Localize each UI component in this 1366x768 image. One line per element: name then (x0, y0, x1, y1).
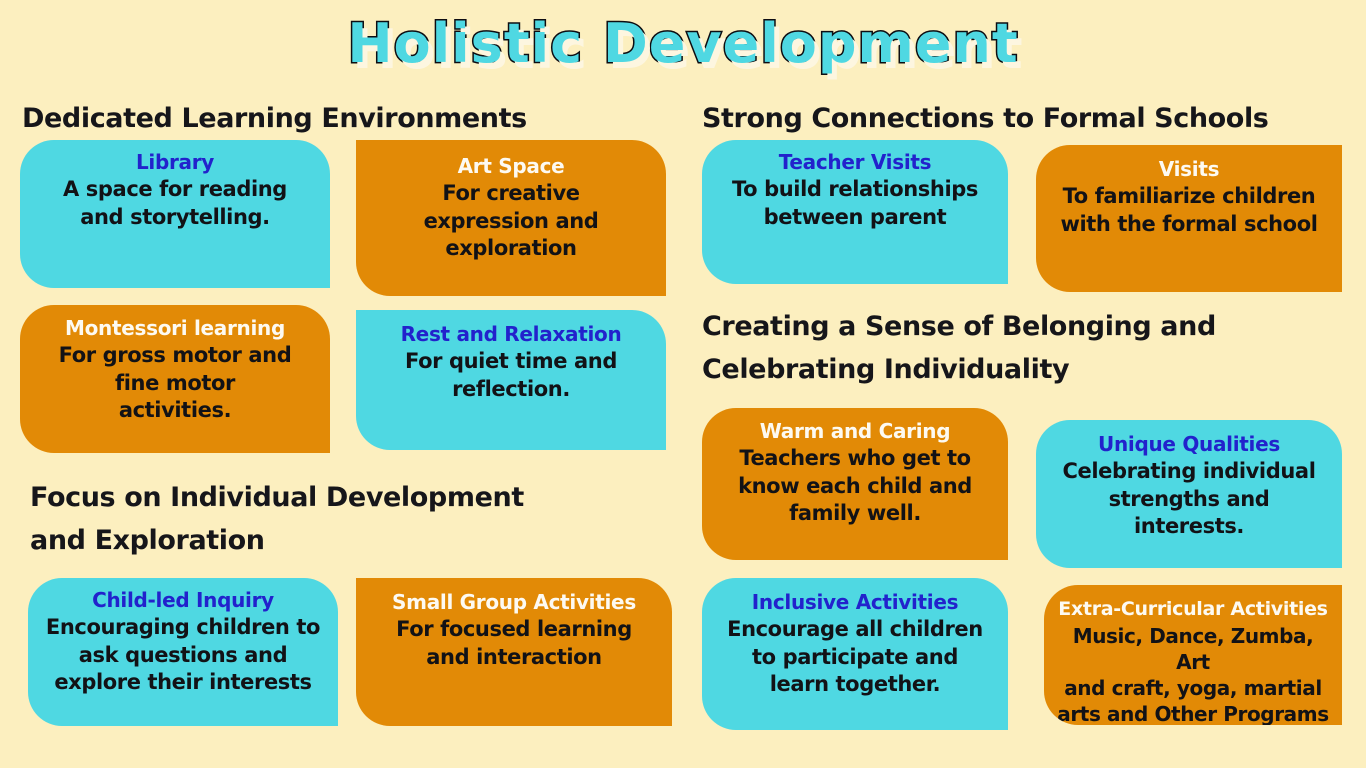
infographic-canvas: Holistic Development Dedicated Learning … (0, 0, 1366, 768)
card-title-warm-and-caring: Warm and Caring (714, 419, 996, 444)
card-library[interactable]: Library A space for reading and storytel… (20, 140, 330, 288)
card-body-inclusive-activities: Encourage all children to participate an… (714, 616, 996, 699)
card-body-unique-qualities: Celebrating individual strengths and int… (1048, 458, 1330, 541)
card-title-extra-curricular-activities: Extra-Curricular Activities (1056, 598, 1330, 622)
card-body-rest-and-relaxation: For quiet time and reflection. (368, 348, 654, 403)
card-title-library: Library (32, 150, 318, 175)
card-inclusive-activities[interactable]: Inclusive Activities Encourage all child… (702, 578, 1008, 730)
card-montessori-learning[interactable]: Montessori learning For gross motor and … (20, 305, 330, 453)
card-body-art-space: For creative expression and exploration (368, 180, 654, 263)
card-art-space[interactable]: Art Space For creative expression and ex… (356, 140, 666, 296)
card-body-library: A space for reading and storytelling. (32, 176, 318, 231)
card-body-child-led-inquiry: Encouraging children to ask questions an… (40, 614, 326, 697)
card-teacher-visits[interactable]: Teacher Visits To build relationships be… (702, 140, 1008, 284)
card-body-small-group-activities: For focused learning and interaction (368, 616, 660, 671)
section-heading-dedicated-learning-environments: Dedicated Learning Environments (22, 98, 527, 141)
card-rest-and-relaxation[interactable]: Rest and Relaxation For quiet time and r… (356, 310, 666, 450)
card-unique-qualities[interactable]: Unique Qualities Celebrating individual … (1036, 420, 1342, 568)
card-title-art-space: Art Space (368, 154, 654, 179)
card-title-unique-qualities: Unique Qualities (1048, 432, 1330, 457)
card-title-inclusive-activities: Inclusive Activities (714, 590, 996, 615)
card-warm-and-caring[interactable]: Warm and Caring Teachers who get to know… (702, 408, 1008, 560)
card-title-child-led-inquiry: Child-led Inquiry (40, 588, 326, 613)
card-title-small-group-activities: Small Group Activities (368, 590, 660, 615)
card-visits[interactable]: Visits To familiarize children with the … (1036, 145, 1342, 292)
card-child-led-inquiry[interactable]: Child-led Inquiry Encouraging children t… (28, 578, 338, 726)
page-title: Holistic Development (0, 12, 1366, 75)
card-body-extra-curricular-activities: Music, Dance, Zumba, Art and craft, yoga… (1056, 623, 1330, 725)
card-body-teacher-visits: To build relationships between parent (714, 176, 996, 231)
card-title-rest-and-relaxation: Rest and Relaxation (368, 322, 654, 347)
card-body-warm-and-caring: Teachers who get to know each child and … (714, 445, 996, 528)
section-heading-focus-on-individual-development: Focus on Individual Development and Expl… (30, 477, 524, 562)
card-body-visits: To familiarize children with the formal … (1048, 183, 1330, 238)
card-body-montessori-learning: For gross motor and fine motor activitie… (32, 342, 318, 425)
section-heading-strong-connections-to-formal-schools: Strong Connections to Formal Schools (702, 98, 1268, 141)
card-title-montessori-learning: Montessori learning (32, 316, 318, 341)
card-extra-curricular-activities[interactable]: Extra-Curricular Activities Music, Dance… (1044, 585, 1342, 725)
section-heading-creating-a-sense-of-belonging: Creating a Sense of Belonging and Celebr… (702, 306, 1216, 391)
card-small-group-activities[interactable]: Small Group Activities For focused learn… (356, 578, 672, 726)
card-title-teacher-visits: Teacher Visits (714, 150, 996, 175)
card-title-visits: Visits (1048, 157, 1330, 182)
